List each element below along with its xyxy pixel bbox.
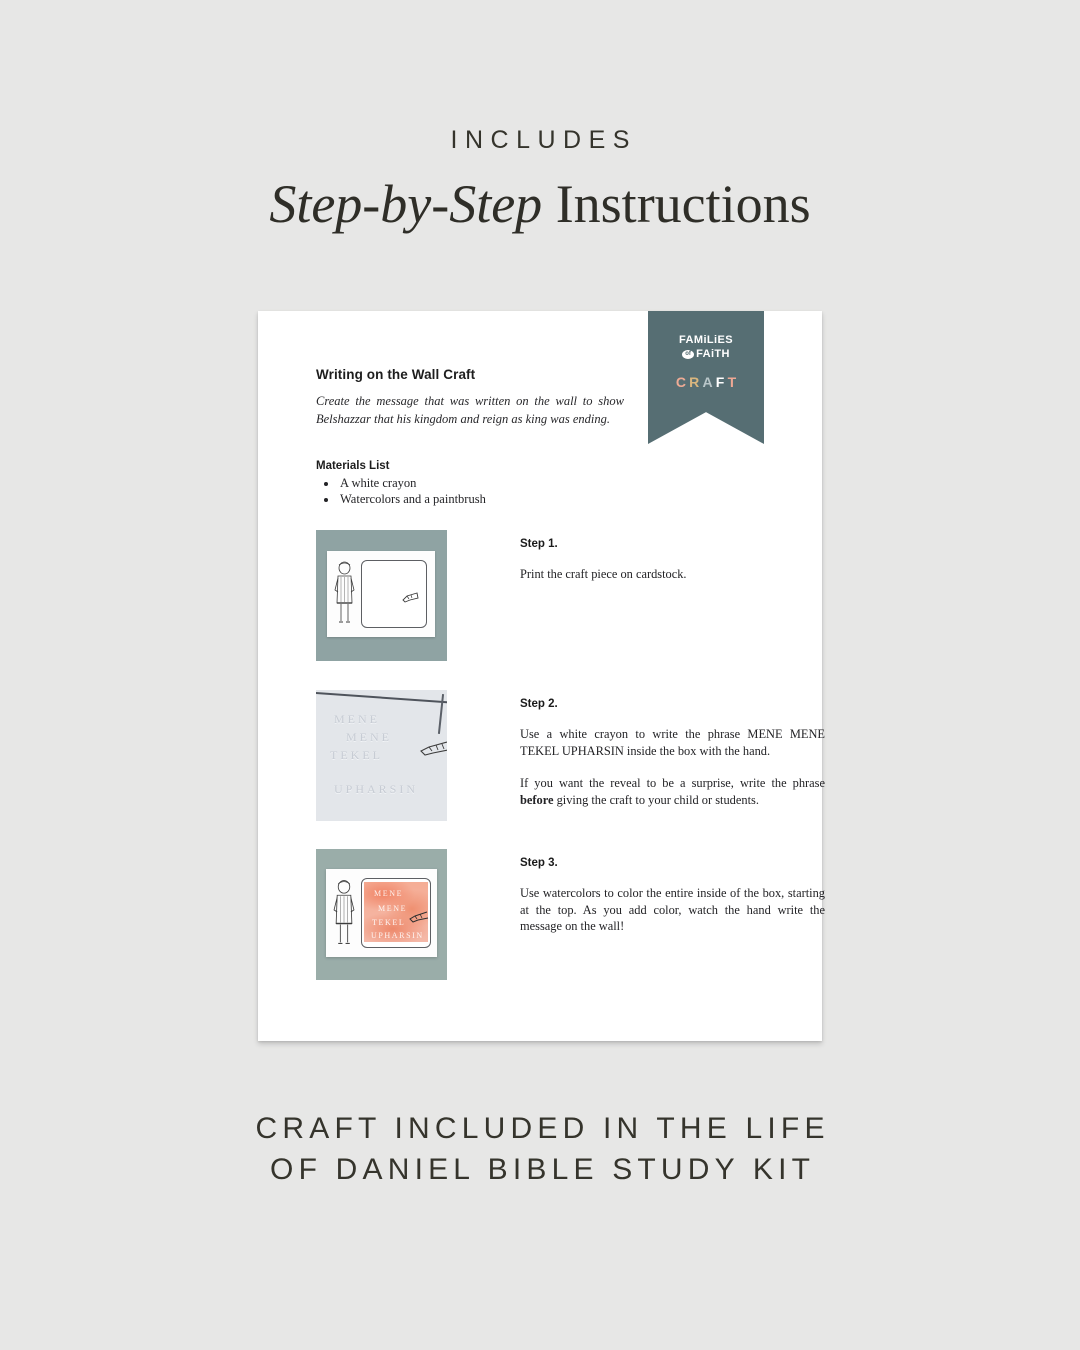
instruction-sheet: FAMiLiES of FAiTH CRAFT Writing on the W… [258,311,822,1041]
pointing-hand-icon [400,587,420,607]
craft-title: Writing on the Wall Craft [316,367,636,382]
craft-box-outline [361,560,427,628]
crayon-word-3: TEKEL [330,748,383,763]
revealed-word-3: TEKEL [372,918,405,927]
families-of-faith-logo: FAMiLiES of FAiTH [679,335,733,360]
revealed-word-1: MENE [374,889,403,898]
ribbon-craft-letter-1: R [689,374,702,390]
craft-description: Create the message that was written on t… [316,392,624,428]
logo-families-text: FAMiLiES [679,335,733,346]
step-2-p2-lead: If you want the reveal to be a surprise,… [520,776,825,790]
step-row-1: Step 1. Print the craft piece on cardsto… [316,530,766,661]
eyebrow-label: INCLUDES [0,128,1080,153]
step-3-label: Step 3. [520,857,825,869]
step-1-photo [316,530,447,661]
step-1-paragraph-1: Print the craft piece on cardstock. [520,566,825,583]
step-2-paragraph-1: Use a white crayon to write the phrase M… [520,726,825,759]
ribbon-craft-word: CRAFT [673,374,740,390]
materials-list-title: Materials List [316,460,390,472]
crayon-word-1: MENE [334,712,380,727]
pointing-hand-icon [407,909,429,927]
list-item: Watercolors and a paintbrush [338,492,486,508]
step-row-2: MENE MENE TEKEL UPHARSIN Step 2. Use a w… [316,690,766,821]
robed-figure-illustration [334,559,355,625]
step-3-paragraph-1: Use watercolors to color the entire insi… [520,885,825,935]
logo-of-badge: of [682,350,694,359]
revealed-word-2: MENE [378,904,407,913]
craft-box-outline: MENE MENE TEKEL UPHARSIN [361,878,431,948]
step-3-photo: MENE MENE TEKEL UPHARSIN [316,849,447,980]
step-1-label: Step 1. [520,538,825,550]
robed-figure-svg [334,559,355,625]
list-item: A white crayon [338,476,486,492]
step-2-label: Step 2. [520,698,825,710]
step-2-photo: MENE MENE TEKEL UPHARSIN [316,690,447,821]
paper-edge-line [316,692,447,704]
footer-caption: CRAFT INCLUDED IN THE LIFE OF DANIEL BIB… [0,1108,1080,1191]
robed-figure-illustration [333,877,355,947]
pointing-hand-icon [417,738,447,762]
step-2-paragraph-2: If you want the reveal to be a surprise,… [520,775,825,808]
ribbon-craft-letter-0: C [676,374,689,390]
robed-figure-svg [333,877,355,947]
footer-caption-line-1: CRAFT INCLUDED IN THE LIFE [0,1108,1080,1149]
page-title-italic: Step-by-Step [269,174,542,234]
page-title-regular: Instructions [542,174,810,234]
step-1-text: Step 1. Print the craft piece on cardsto… [520,538,825,583]
logo-faith-text: FAiTH [696,349,730,360]
page-title: Step-by-Step Instructions [0,176,1080,233]
materials-list: A white crayon Watercolors and a paintbr… [316,476,486,508]
step-row-3: MENE MENE TEKEL UPHARSIN Step 3. Use wat… [316,849,766,980]
ribbon-craft-letter-3: F [716,374,728,390]
ribbon-craft-letter-2: A [702,374,715,390]
craft-ribbon-banner: FAMiLiES of FAiTH CRAFT [648,311,764,444]
top-heading-block: INCLUDES Step-by-Step Instructions [0,128,1080,233]
footer-caption-line-2: OF DANIEL BIBLE STUDY KIT [0,1149,1080,1190]
step-3-text: Step 3. Use watercolors to color the ent… [520,857,825,935]
step-2-text: Step 2. Use a white crayon to write the … [520,698,825,808]
crayon-word-4: UPHARSIN [334,782,418,797]
step-2-p2-tail: giving the craft to your child or studen… [554,793,759,807]
step-2-p2-bold: before [520,793,554,807]
revealed-word-4: UPHARSIN [371,931,424,940]
crayon-word-2: MENE [346,730,392,745]
ribbon-craft-letter-4: T [728,374,740,390]
